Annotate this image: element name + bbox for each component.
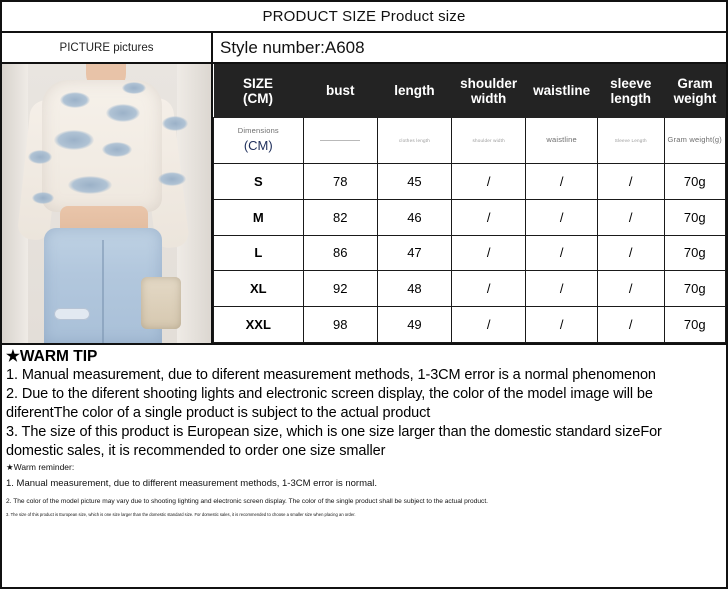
size-table-body: Dimensions (CM) clothes length shoulder … [214,118,726,343]
cell-size: XL [214,271,304,307]
tiedye-cloud-print [162,116,188,131]
column-header-sleeve-line1: sleeve [610,76,651,91]
product-size-sheet: PRODUCT SIZE Product size PICTURE pictur… [0,0,728,589]
cell-length: 45 [377,164,451,200]
subheader-gram-faint: Gram weight(g) [667,136,723,144]
subheader-size: Dimensions (CM) [214,118,304,164]
warm-reminder-line-2: 2. The color of the model picture may va… [6,494,722,510]
cell-waistline: / [526,235,598,271]
cell-shoulder-width: / [452,235,526,271]
cell-waistline: / [526,164,598,200]
tiedye-cloud-print [68,176,112,194]
subheader-size-faint: Dimensions [216,127,301,135]
picture-caption: PICTURE pictures [2,33,211,64]
column-header-shoulder-line1: shoulder [460,76,517,91]
cell-waistline: / [526,199,598,235]
table-row: M 82 46 / / / 70g [214,199,726,235]
warm-tip-line-2: 2. Due to the diferent shooting lights a… [6,385,722,423]
cell-shoulder-width: / [452,307,526,343]
page-title: PRODUCT SIZE Product size [262,8,465,25]
cell-sleeve-length: / [597,271,664,307]
tiedye-cloud-print [102,142,132,157]
subheader-waistline-faint: waistline [528,136,595,144]
size-table-subheader-row: Dimensions (CM) clothes length shoulder … [214,118,726,164]
jeans-rip [54,308,90,320]
column-header-shoulder-line2: width [471,91,506,106]
warm-reminder-block: ★Warm reminder: 1. Manual measurement, d… [2,461,726,521]
table-row: L 86 47 / / / 70g [214,235,726,271]
cell-waistline: / [526,307,598,343]
warm-tip-line-3: 3. The size of this product is European … [6,423,722,461]
table-row: XXL 98 49 / / / 70g [214,307,726,343]
subheader-shoulder-faint: shoulder width [454,138,523,143]
subheader-shoulder-width: shoulder width [452,118,526,164]
tiedye-cloud-print [122,82,146,94]
cell-size: L [214,235,304,271]
size-table-column: Style number:A608 SIZE (CM) [213,33,726,343]
tiedye-cloud-print [158,172,186,186]
picture-and-table-block: PICTURE pictures [2,33,726,345]
column-header-sleeve-line2: length [610,91,651,106]
warm-tip-heading: ★WARM TIP [6,348,722,366]
cell-shoulder-width: / [452,271,526,307]
cell-size: M [214,199,304,235]
subheader-length: clothes length [377,118,451,164]
cell-sleeve-length: / [597,199,664,235]
column-header-gram-line1: Gram [677,76,712,91]
column-header-gram-line2: weight [674,91,717,106]
cell-bust: 86 [303,235,377,271]
column-header-size-line2: (CM) [243,91,273,106]
subheader-sleeve-faint: Sleeve Length [600,138,662,143]
column-header-bust: bust [303,65,377,118]
subheader-waistline: waistline [526,118,598,164]
subheader-gram-weight: Gram weight(g) [664,118,725,164]
cell-size: S [214,164,304,200]
cell-gram-weight: 70g [664,235,725,271]
column-header-size-line1: SIZE [243,76,273,91]
size-table: SIZE (CM) bust length shoulder width wai… [213,64,726,343]
subheader-size-cm: (CM) [216,139,301,153]
size-table-header-row: SIZE (CM) bust length shoulder width wai… [214,65,726,118]
cell-length: 47 [377,235,451,271]
cell-bust: 82 [303,199,377,235]
warm-tip-block: ★WARM TIP 1. Manual measurement, due to … [2,345,726,461]
style-number-row: Style number:A608 [213,33,726,64]
cell-sleeve-length: / [597,235,664,271]
column-header-waistline: waistline [526,65,598,118]
table-row: XL 92 48 / / / 70g [214,271,726,307]
picture-column: PICTURE pictures [2,33,213,343]
subheader-bust [303,118,377,164]
style-number-label: Style number:A608 [220,38,365,58]
warm-reminder-line-1: 1. Manual measurement, due to different … [6,474,722,494]
subheader-length-faint: clothes length [380,138,449,143]
column-header-gram-weight: Gram weight [664,65,725,118]
cell-shoulder-width: / [452,199,526,235]
cell-waistline: / [526,271,598,307]
column-header-sleeve-length: sleeve length [597,65,664,118]
tiedye-cloud-print [28,150,52,164]
handbag [141,277,181,329]
tiedye-cloud-print [106,104,140,122]
tiedye-cloud-print [60,92,90,108]
cell-bust: 78 [303,164,377,200]
column-header-shoulder-width: shoulder width [452,65,526,118]
column-header-size: SIZE (CM) [214,65,304,118]
table-row: S 78 45 / / / 70g [214,164,726,200]
warm-reminder-heading: ★Warm reminder: [6,461,722,475]
cell-gram-weight: 70g [664,164,725,200]
tiedye-cloud-print [54,130,94,150]
cell-sleeve-length: / [597,307,664,343]
cell-gram-weight: 70g [664,199,725,235]
warm-tip-line-1: 1. Manual measurement, due to diferent m… [6,366,722,385]
cell-length: 49 [377,307,451,343]
tiedye-cloud-print [32,192,54,204]
subheader-sleeve-length: Sleeve Length [597,118,664,164]
sheet-title-row: PRODUCT SIZE Product size [2,2,726,33]
cell-size: XXL [214,307,304,343]
cell-bust: 92 [303,271,377,307]
cell-shoulder-width: / [452,164,526,200]
cell-length: 46 [377,199,451,235]
product-photo-cell [2,64,211,343]
product-photo [2,64,211,343]
cell-gram-weight: 70g [664,307,725,343]
column-header-length: length [377,65,451,118]
cell-sleeve-length: / [597,164,664,200]
subheader-bust-dash [320,140,360,141]
cell-gram-weight: 70g [664,271,725,307]
cell-length: 48 [377,271,451,307]
cell-bust: 98 [303,307,377,343]
warm-reminder-line-3: 3. The size of this product is European … [6,510,722,521]
